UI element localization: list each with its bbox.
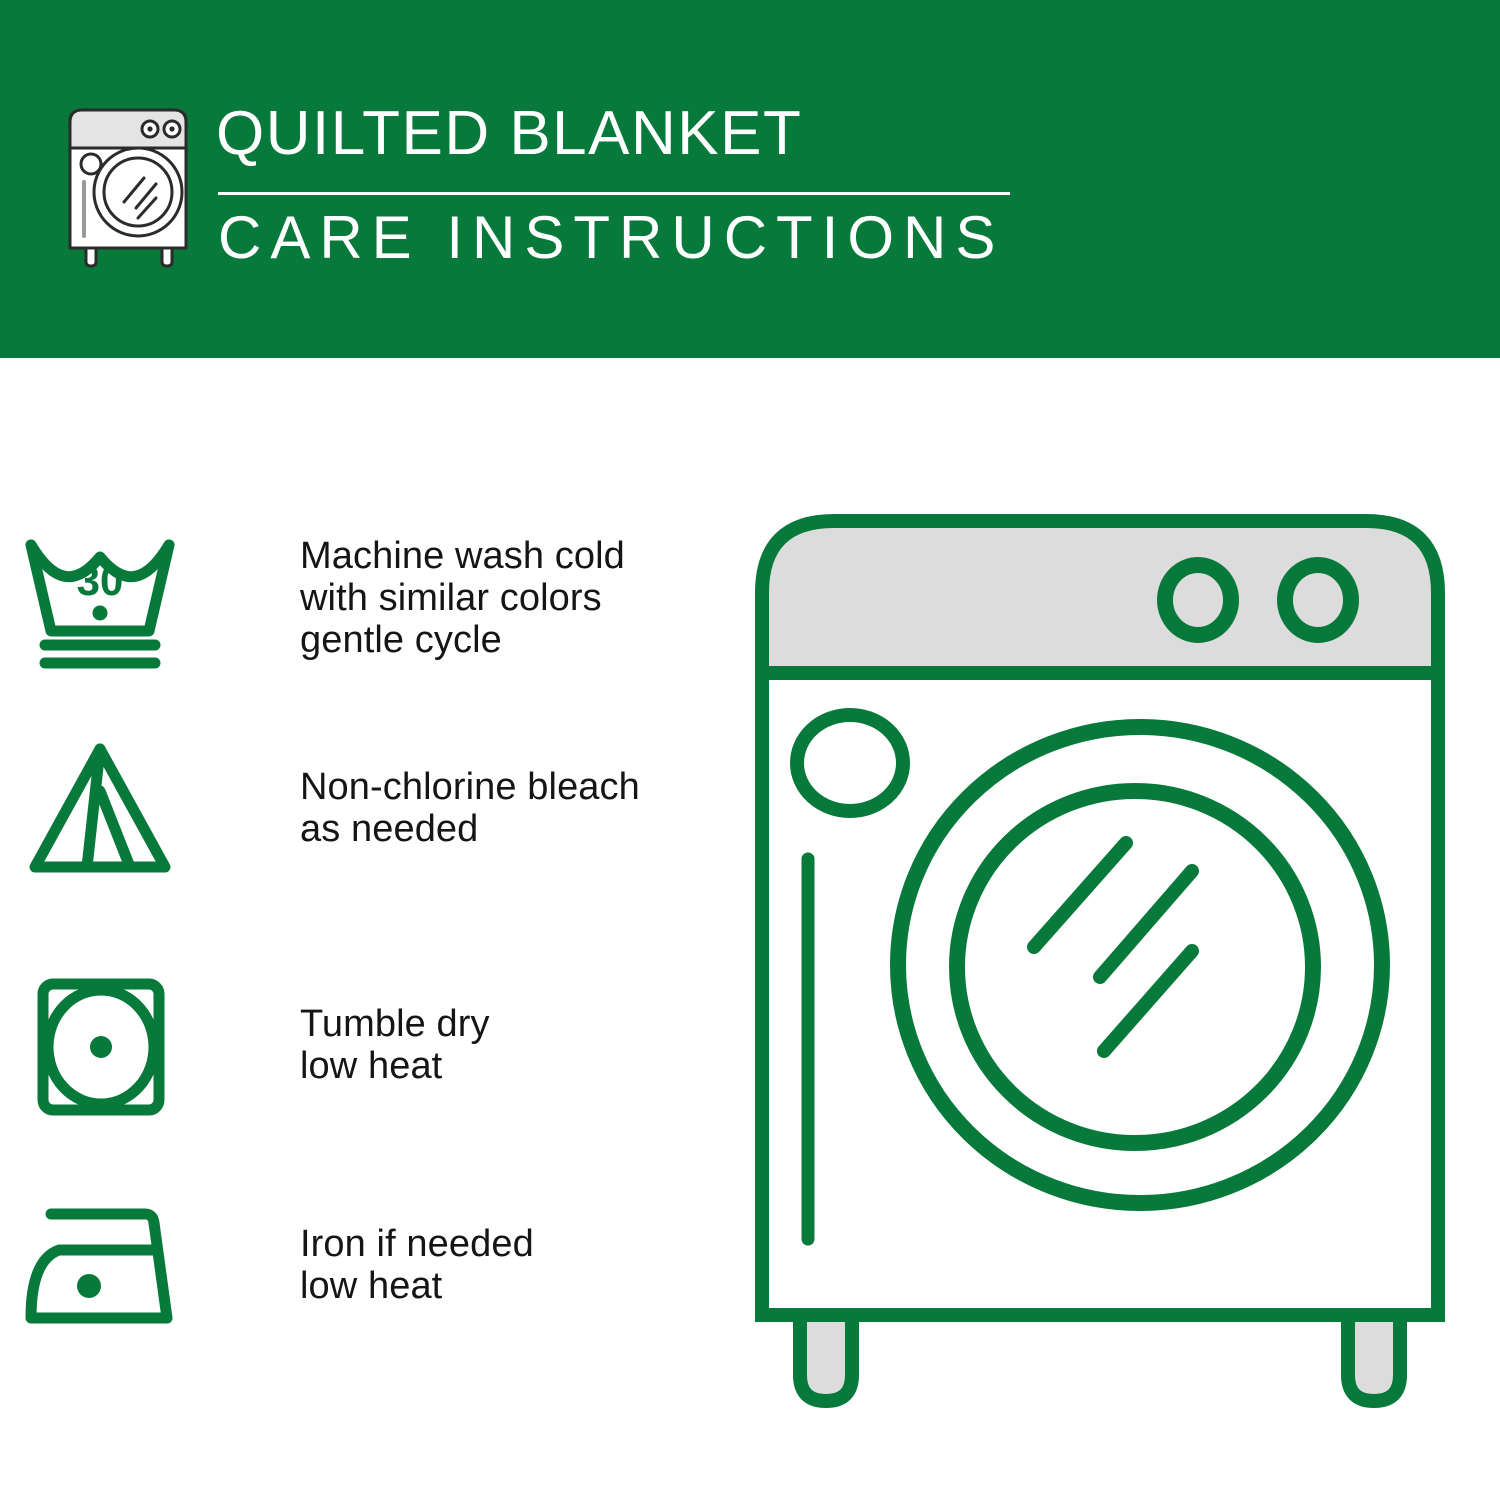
care-item-text: Machine wash cold with similar colors ge… (200, 535, 625, 661)
care-item-text: Tumble dry low heat (200, 1003, 490, 1087)
care-item-machine-wash: 30 Machine wash cold with similar colors… (0, 518, 720, 678)
care-line: Machine wash cold (300, 535, 625, 577)
care-line: Non-chlorine bleach (300, 766, 640, 808)
washing-machine-icon (62, 104, 210, 268)
wash-tub-30-gentle-icon: 30 (0, 518, 200, 678)
care-line: low heat (300, 1265, 534, 1307)
care-instructions-infographic: QUILTED BLANKET CARE INSTRUCTIONS 30 (0, 0, 1500, 1500)
care-line: with similar colors (300, 577, 625, 619)
header-band: QUILTED BLANKET CARE INSTRUCTIONS (0, 0, 1500, 358)
washer-knob (1285, 565, 1351, 635)
care-line: Iron if needed (300, 1223, 534, 1265)
washer-detergent-dial (797, 715, 903, 811)
care-item-tumble-dry: Tumble dry low heat (0, 965, 720, 1125)
front-load-washing-machine-illustration (740, 495, 1460, 1435)
care-line: low heat (300, 1045, 490, 1087)
wash-temperature-label: 30 (77, 557, 124, 604)
page-title: QUILTED BLANKET (216, 98, 1016, 170)
page-subtitle: CARE INSTRUCTIONS (218, 200, 1004, 276)
washer-foot (800, 1315, 852, 1401)
header-divider (218, 192, 1010, 195)
care-line: gentle cycle (300, 619, 625, 661)
care-item-text: Non-chlorine bleach as needed (200, 766, 640, 850)
care-item-bleach: Non-chlorine bleach as needed (0, 728, 720, 888)
washer-foot (1348, 1315, 1400, 1401)
iron-low-heat-icon (0, 1185, 200, 1345)
header-title-group: QUILTED BLANKET (216, 98, 1016, 170)
care-line: Tumble dry (300, 1003, 490, 1045)
non-chlorine-bleach-triangle-icon (0, 728, 200, 888)
care-item-iron: Iron if needed low heat (0, 1185, 720, 1345)
washer-knob (1165, 565, 1231, 635)
tumble-dry-low-heat-icon (0, 965, 200, 1125)
care-line: as needed (300, 808, 640, 850)
washer-door-inner (957, 791, 1313, 1143)
care-item-text: Iron if needed low heat (200, 1223, 534, 1307)
